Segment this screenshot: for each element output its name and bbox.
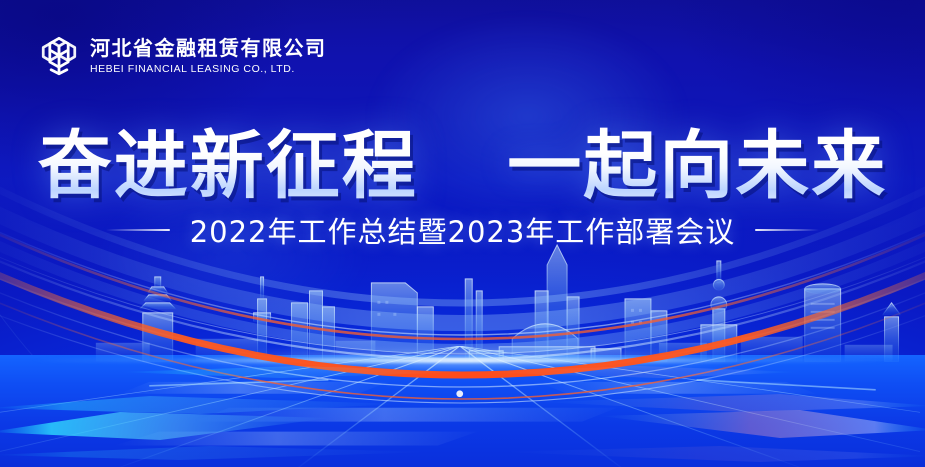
decorative-rule-right bbox=[755, 229, 819, 231]
decorative-rule-left bbox=[106, 229, 170, 231]
logo-text-block: 河北省金融租赁有限公司 HEBEI FINANCIAL LEASING CO.,… bbox=[90, 38, 327, 75]
hebei-financial-leasing-logo-mark bbox=[38, 33, 80, 79]
headline-part-1: 奋进新征程 bbox=[38, 123, 418, 209]
headline-block: 奋进新征程 一起向未来 bbox=[0, 106, 925, 213]
company-name-cn: 河北省金融租赁有限公司 bbox=[90, 38, 327, 58]
subtitle-block: 2022年工作总结暨2023年工作部署会议 bbox=[0, 209, 925, 251]
headline-part-2: 一起向未来 bbox=[507, 123, 887, 209]
conference-banner: 河北省金融租赁有限公司 HEBEI FINANCIAL LEASING CO.,… bbox=[0, 0, 925, 467]
subtitle-text: 2022年工作总结暨2023年工作部署会议 bbox=[190, 209, 736, 251]
headline-text: 奋进新征程 一起向未来 bbox=[38, 106, 888, 213]
company-logo[interactable]: 河北省金融租赁有限公司 HEBEI FINANCIAL LEASING CO.,… bbox=[38, 33, 327, 79]
company-name-en: HEBEI FINANCIAL LEASING CO., LTD. bbox=[90, 64, 327, 75]
horizon-glow-line bbox=[0, 358, 925, 363]
